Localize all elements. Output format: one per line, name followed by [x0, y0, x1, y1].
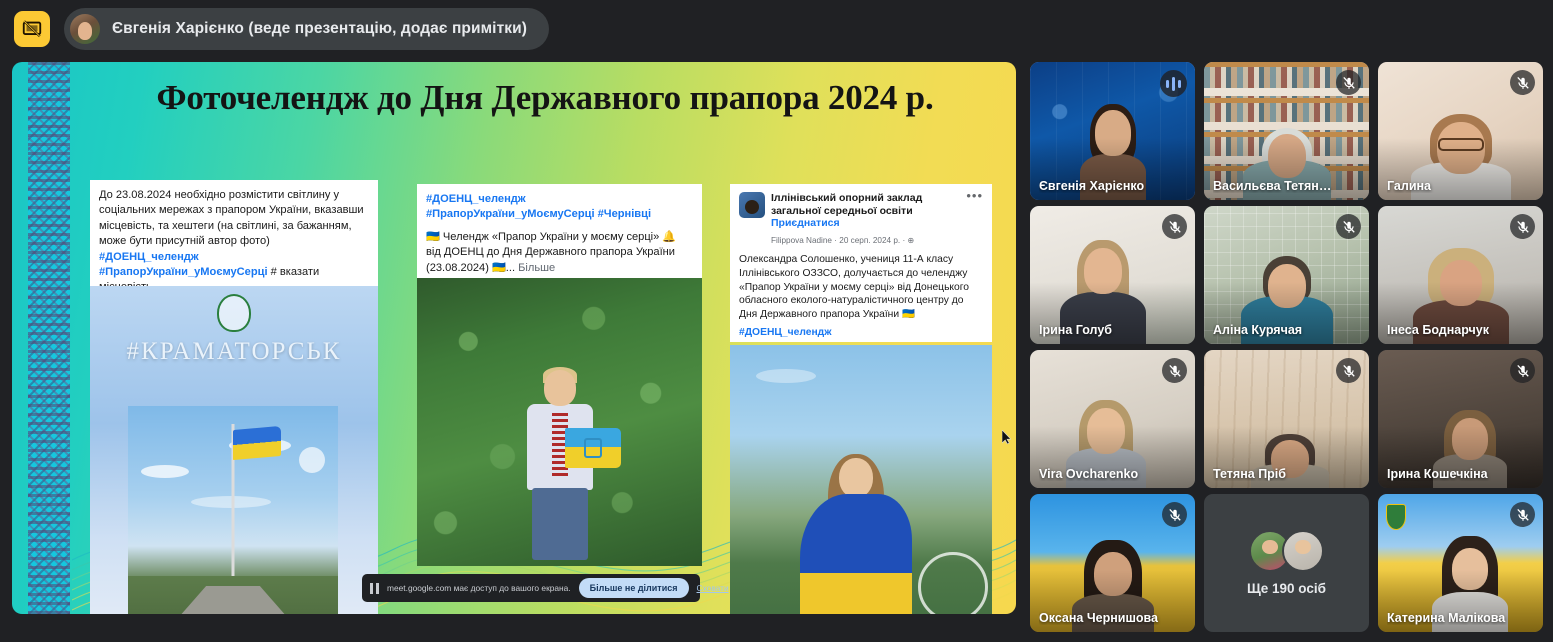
stop-presenting-icon[interactable]	[14, 11, 50, 47]
ukrainian-flag-icon	[800, 494, 912, 614]
participant-tile[interactable]: Ірина Кошечкіна	[1378, 350, 1543, 488]
mic-off-icon	[1162, 358, 1187, 383]
participant-name: Васильєва Тетяна Ва…	[1213, 179, 1335, 193]
post3-header: Іллінівський опорний заклад загальної се…	[739, 192, 983, 248]
mic-off-icon	[1510, 358, 1535, 383]
avatar	[1282, 530, 1324, 572]
post2-hashtag-2: #ПрапорУкраїни_уМоємуСерці #Чернівці	[426, 207, 693, 222]
mic-off-icon	[1336, 70, 1361, 95]
mic-off-icon	[1510, 502, 1535, 527]
instructions-body: До 23.08.2024 необхідно розмістити світл…	[99, 188, 369, 250]
participant-tile[interactable]: Vira Ovcharenko	[1030, 350, 1195, 488]
meet-top-bar: Євгенія Харієнко (веде презентацію, дода…	[0, 0, 1553, 58]
mic-off-icon	[1336, 358, 1361, 383]
ukrainian-flag-icon	[233, 426, 281, 460]
participant-tile[interactable]: Ірина Голуб	[1030, 206, 1195, 344]
participant-tile[interactable]: Катерина Малікова	[1378, 494, 1543, 632]
mic-off-icon	[1162, 214, 1187, 239]
participant-grid: Євгенія Харієнко Васильєва Тетяна Ва…	[1030, 62, 1543, 638]
presentation-slide: Фоточелендж до Дня Державного прапора 20…	[12, 62, 1016, 614]
park-path	[128, 576, 338, 614]
screen-share-banner: meet.google.com має доступ до вашого екр…	[362, 574, 700, 602]
participant-tile[interactable]: Інеса Боднарчук	[1378, 206, 1543, 344]
participant-name: Vira Ovcharenko	[1039, 467, 1161, 481]
post2-hashtag-1: #ДОЕНЦ_челендж	[426, 192, 693, 207]
presenter-avatar	[70, 14, 100, 44]
school-emblem-icon	[217, 294, 251, 332]
participant-name: Оксана Чернишова	[1039, 611, 1161, 625]
boy-figure	[521, 370, 599, 562]
mic-off-icon	[1162, 502, 1187, 527]
audio-level-icon	[1160, 70, 1187, 97]
participant-name: Євгенія Харієнко	[1039, 179, 1161, 193]
more-participants-avatars	[1249, 530, 1324, 572]
participant-tile[interactable]: Галина	[1378, 62, 1543, 200]
more-participants-label: Ще 190 осіб	[1247, 581, 1326, 596]
participant-name: Інеса Боднарчук	[1387, 323, 1509, 337]
instructions-hashtag-1: #ДОЕНЦ_челендж	[99, 250, 369, 265]
slide-photo-boy-with-flag	[417, 278, 702, 566]
participant-tile[interactable]: Євгенія Харієнко	[1030, 62, 1195, 200]
participant-name: Тетяна Пріб	[1213, 467, 1335, 481]
girl-figure	[796, 458, 916, 614]
presenter-label: Євгенія Харієнко (веде презентацію, дода…	[112, 20, 527, 38]
stop-sharing-button[interactable]: Більше не ділитися	[579, 578, 689, 598]
slide-photo-girl-with-flag	[730, 345, 992, 614]
share-banner-text: meet.google.com має доступ до вашого екр…	[387, 583, 571, 593]
ukrainian-flag-icon	[565, 428, 621, 468]
participant-name: Ірина Голуб	[1039, 323, 1161, 337]
mic-off-icon	[1510, 214, 1535, 239]
vyshyvanka-border-decoration	[28, 62, 70, 614]
participant-name: Галина	[1387, 179, 1509, 193]
mic-off-icon	[1336, 214, 1361, 239]
flagpole-photo	[128, 406, 338, 614]
mic-off-icon	[1510, 70, 1535, 95]
post2-body: 🇺🇦 Челендж «Прапор України у моєму серці…	[426, 230, 693, 276]
page-avatar	[739, 192, 765, 218]
post2-more-link[interactable]: Більше	[518, 262, 555, 274]
pause-icon[interactable]	[370, 583, 379, 594]
slide-photo-kramatorsk: #КРАМАТОРСЬК	[90, 286, 378, 614]
post3-hashtag-1: #ДОЕНЦ_челендж	[739, 326, 983, 340]
post3-page-name: Іллінівський опорний заклад загальної се…	[771, 192, 960, 217]
participant-tile[interactable]: Оксана Чернишова	[1030, 494, 1195, 632]
slide-card-illinivka-post: Іллінівський опорний заклад загальної се…	[730, 184, 992, 342]
slide-card-instructions: До 23.08.2024 необхідно розмістити світл…	[90, 180, 378, 286]
participant-name: Ірина Кошечкіна	[1387, 467, 1509, 481]
participant-tile[interactable]: Тетяна Пріб	[1204, 350, 1369, 488]
meeting-stage: Фоточелендж до Дня Державного прапора 20…	[0, 58, 1553, 642]
more-options-icon[interactable]: •••	[966, 192, 983, 200]
participant-name: Аліна Курячая	[1213, 323, 1335, 337]
slide-card-chernivtsi-post: #ДОЕНЦ_челендж #ПрапорУкраїни_уМоємуСерц…	[417, 184, 702, 278]
shared-screen-panel[interactable]: Фоточелендж до Дня Державного прапора 20…	[12, 62, 1016, 614]
post3-meta: Filippova Nadine · 20 серп. 2024 р. · ⊕	[771, 233, 960, 248]
presenter-chip[interactable]: Євгенія Харієнко (веде презентацію, дода…	[64, 8, 549, 50]
post3-join-link[interactable]: Приєднатися	[771, 217, 960, 230]
post3-body: Олександра Солошенко, учениця 11-А класу…	[739, 253, 983, 321]
instructions-hashtag-2: #ПрапорУкраїни_уМоємуСерці	[99, 266, 268, 278]
participant-name: Катерина Малікова	[1387, 611, 1509, 625]
pitch-marking	[918, 552, 988, 614]
more-participants-tile[interactable]: Ще 190 осіб	[1204, 494, 1369, 632]
hide-banner-link[interactable]: Сховати	[697, 583, 729, 593]
photo-caption-kramatorsk: #КРАМАТОРСЬК	[90, 338, 378, 366]
participant-tile[interactable]: Васильєва Тетяна Ва…	[1204, 62, 1369, 200]
participant-tile[interactable]: Аліна Курячая	[1204, 206, 1369, 344]
page-title: Фоточелендж до Дня Державного прапора 20…	[90, 72, 1000, 124]
